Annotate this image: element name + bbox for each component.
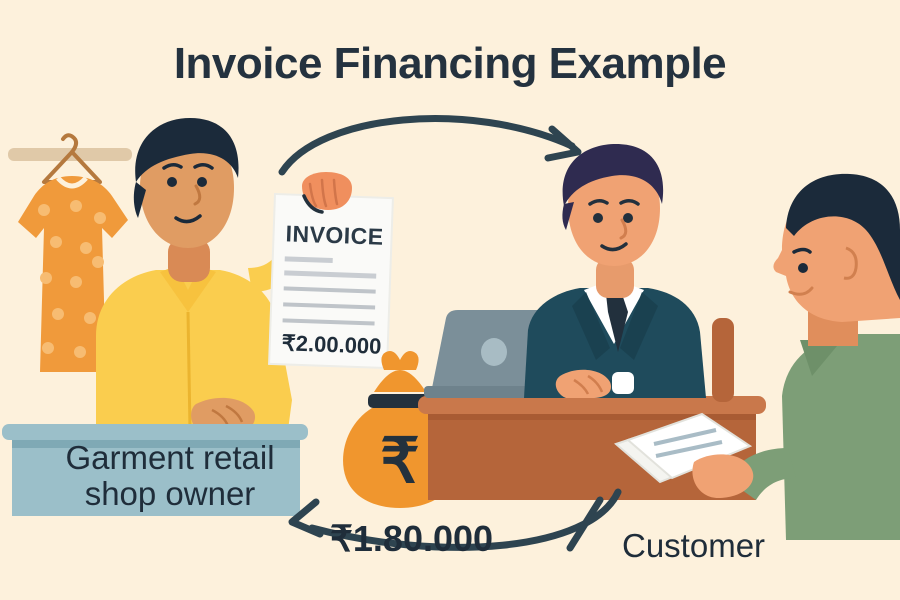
shop-owner-label-line2: shop owner	[85, 475, 256, 512]
shop-owner-label-line1: Garment retail	[65, 439, 274, 476]
invoice-card: INVOICE ₹2.00.000	[269, 172, 393, 368]
chair-back	[712, 318, 734, 402]
counter-lip	[2, 424, 308, 440]
eye-left	[167, 177, 177, 187]
desk-top	[418, 396, 766, 414]
invoice-content: INVOICE ₹2.00.000	[281, 220, 385, 358]
customer-shirt	[782, 334, 900, 540]
laptop-logo	[481, 338, 507, 366]
customer-label: Customer	[622, 527, 765, 564]
rupee-symbol: ₹	[380, 427, 419, 496]
financier-eye-left	[593, 213, 603, 223]
disbursed-amount-label: ₹1.80.000	[330, 518, 493, 559]
invoice-financing-illustration: Invoice Financing Example	[0, 0, 900, 600]
invoice-heading: INVOICE	[285, 220, 384, 249]
customer-eye	[798, 263, 808, 273]
shirt-cuff	[612, 372, 634, 394]
invoice-amount: ₹2.00.000	[281, 330, 381, 358]
illustration-canvas: Invoice Financing Example	[0, 0, 900, 600]
page-title: Invoice Financing Example	[174, 39, 726, 88]
eye-right	[197, 177, 207, 187]
